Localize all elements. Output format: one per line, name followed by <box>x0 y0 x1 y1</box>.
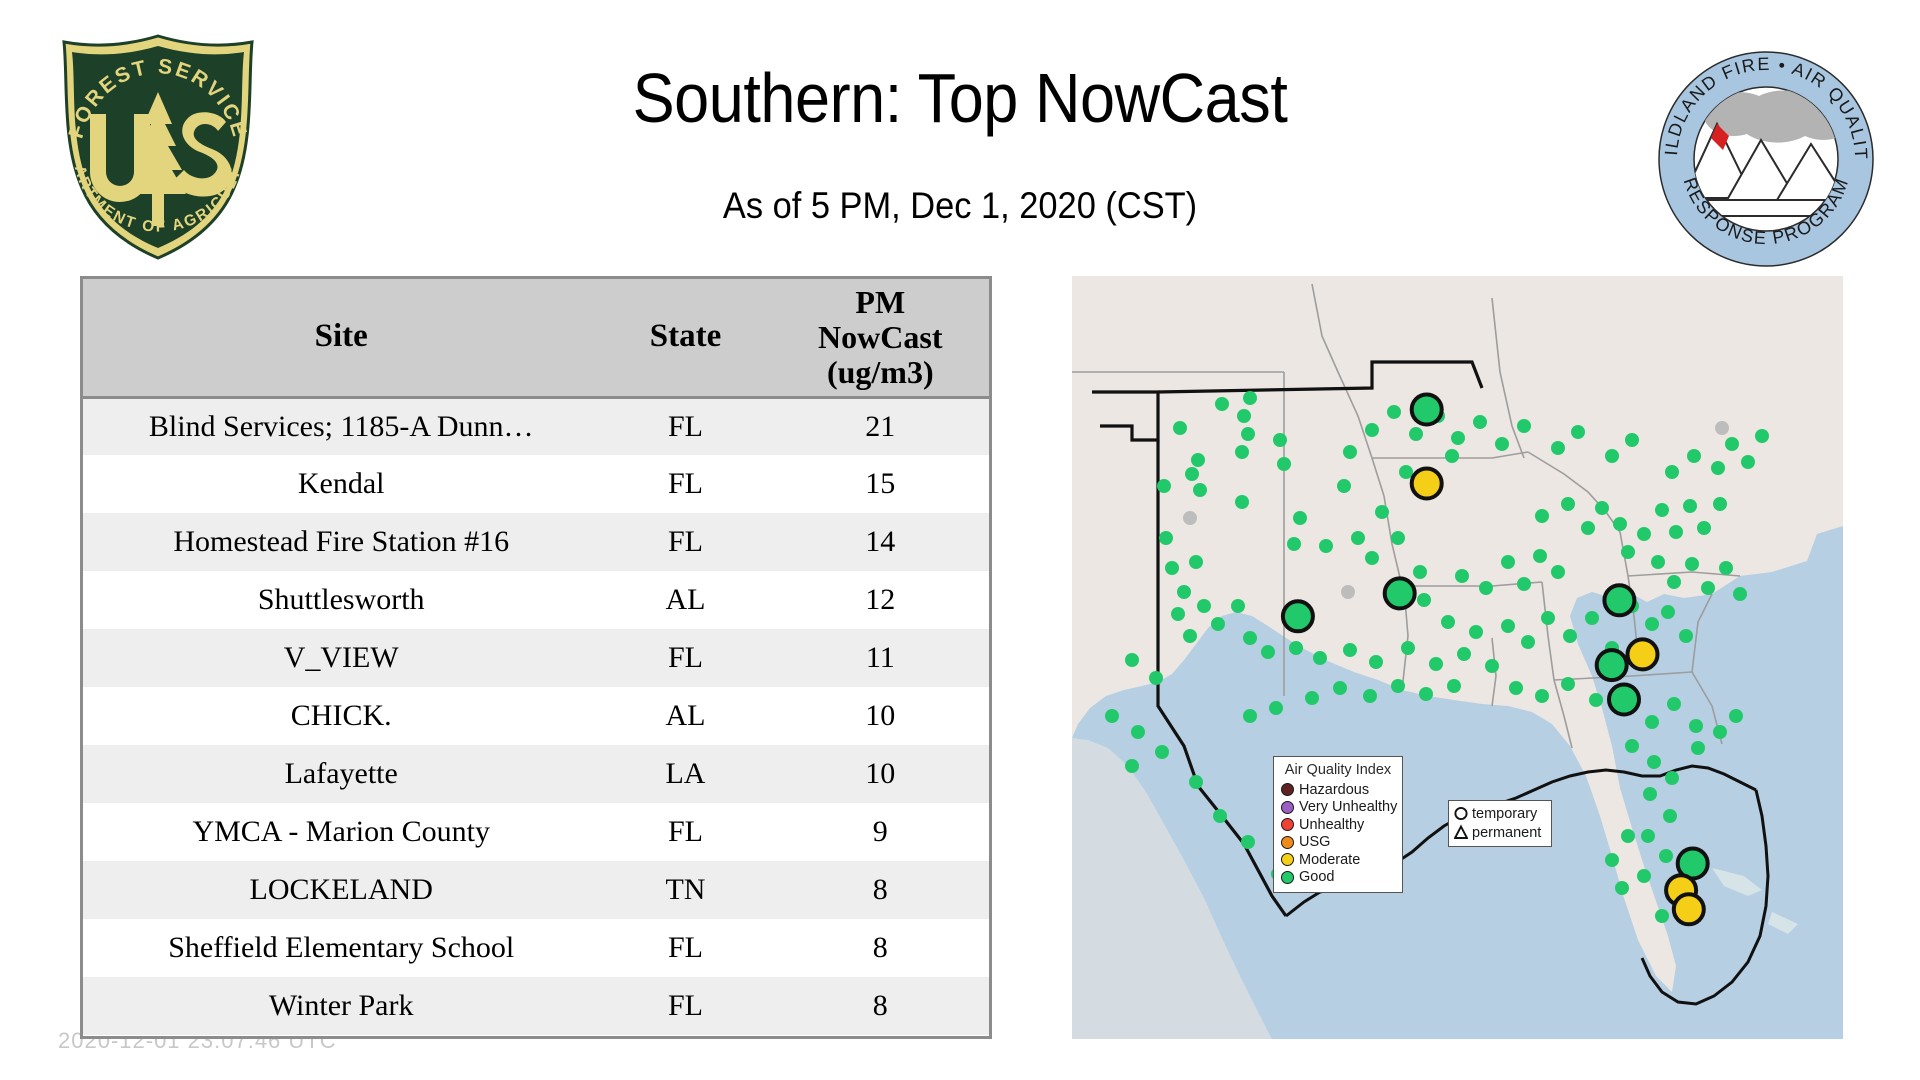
table-row: Sheffield Elementary SchoolFL8 <box>83 919 989 977</box>
legend-temporary-label: temporary <box>1472 806 1537 822</box>
pm-cell: 8 <box>772 977 989 1035</box>
state-cell: FL <box>599 629 771 687</box>
aqi-legend-label: Unhealthy <box>1299 817 1364 833</box>
site-cell: Kendal <box>83 455 599 513</box>
aqi-swatch-icon <box>1281 783 1294 796</box>
monitor-type-legend: temporary permanent <box>1448 800 1552 847</box>
site-cell: Homestead Fire Station #16 <box>83 513 599 571</box>
aqi-legend-label: Moderate <box>1299 852 1360 868</box>
aqi-swatch-icon <box>1281 871 1294 884</box>
triangle-icon <box>1454 824 1468 841</box>
table-row: Winter ParkFL8 <box>83 977 989 1035</box>
aqi-legend-label: USG <box>1299 834 1330 850</box>
table-row: LOCKELANDTN8 <box>83 861 989 919</box>
legend-temporary-row: temporary <box>1454 804 1546 823</box>
highlighted-monitor-marker[interactable] <box>1628 639 1658 669</box>
aqi-legend-title: Air Quality Index <box>1281 762 1395 778</box>
state-cell: FL <box>599 919 771 977</box>
site-cell: YMCA - Marion County <box>83 803 599 861</box>
aqi-swatch-icon <box>1281 801 1294 814</box>
state-cell: AL <box>599 687 771 745</box>
site-cell: Blind Services; 1185-A Dunn… <box>83 397 599 455</box>
pm-cell: 14 <box>772 513 989 571</box>
state-cell: TN <box>599 861 771 919</box>
nowcast-table: Site State PM NowCast (ug/m3) Blind Serv… <box>83 279 989 1035</box>
column-header-site: Site <box>83 279 599 397</box>
wildland-fire-air-quality-response-program-logo: WILDLAND FIRE • AIR QUALITY RESPONSE PRO… <box>1655 48 1877 270</box>
aqi-swatch-icon <box>1281 853 1294 866</box>
site-cell: Shuttlesworth <box>83 571 599 629</box>
site-cell: V_VIEW <box>83 629 599 687</box>
aqi-legend-item: USG <box>1281 834 1395 852</box>
legend-permanent-label: permanent <box>1472 825 1541 841</box>
aqi-legend-item: Moderate <box>1281 851 1395 869</box>
state-cell: LA <box>599 745 771 803</box>
pm-cell: 15 <box>772 455 989 513</box>
aqi-legend-item: Unhealthy <box>1281 816 1395 834</box>
table-body: Blind Services; 1185-A Dunn…FL21KendalFL… <box>83 397 989 1035</box>
aqi-legend-item: Very Unhealthy <box>1281 799 1395 817</box>
aqi-legend-rows: HazardousVery UnhealthyUnhealthyUSGModer… <box>1281 781 1395 886</box>
highlighted-monitor-marker[interactable] <box>1609 685 1639 715</box>
nowcast-table-container: Site State PM NowCast (ug/m3) Blind Serv… <box>80 276 992 1039</box>
pm-header-line-3: (ug/m3) <box>776 355 985 390</box>
state-cell: FL <box>599 397 771 455</box>
pm-header-line-2: NowCast <box>776 320 985 355</box>
southern-region-aqi-map[interactable] <box>1072 276 1843 1039</box>
highlighted-monitor-marker[interactable] <box>1674 894 1704 924</box>
aqi-legend: Air Quality Index HazardousVery Unhealth… <box>1273 756 1403 893</box>
site-cell: Winter Park <box>83 977 599 1035</box>
column-header-pm-nowcast: PM NowCast (ug/m3) <box>772 279 989 397</box>
table-row: YMCA - Marion CountyFL9 <box>83 803 989 861</box>
highlighted-monitor-marker[interactable] <box>1597 650 1627 680</box>
pm-cell: 10 <box>772 687 989 745</box>
aqi-legend-label: Good <box>1299 869 1334 885</box>
table-row: Blind Services; 1185-A Dunn…FL21 <box>83 397 989 455</box>
highlighted-monitor-marker[interactable] <box>1412 395 1442 425</box>
aqi-legend-label: Very Unhealthy <box>1299 799 1397 815</box>
site-cell: CHICK. <box>83 687 599 745</box>
aqi-legend-item: Good <box>1281 869 1395 887</box>
state-cell: FL <box>599 977 771 1035</box>
table-row: CHICK.AL10 <box>83 687 989 745</box>
highlighted-monitor-marker[interactable] <box>1385 578 1415 608</box>
pm-cell: 8 <box>772 861 989 919</box>
page-title: Southern: Top NowCast <box>366 58 1554 138</box>
site-cell: Lafayette <box>83 745 599 803</box>
map-canvas <box>1072 276 1843 1039</box>
slide-root: 2020-12-01 23:07:46 UTC FOREST SERVICE D… <box>0 0 1920 1080</box>
table-row: ShuttlesworthAL12 <box>83 571 989 629</box>
aqi-swatch-icon <box>1281 836 1294 849</box>
table-header-row: Site State PM NowCast (ug/m3) <box>83 279 989 397</box>
state-cell: FL <box>599 455 771 513</box>
state-cell: FL <box>599 513 771 571</box>
pm-cell: 9 <box>772 803 989 861</box>
table-row: Homestead Fire Station #16FL14 <box>83 513 989 571</box>
pm-cell: 8 <box>772 919 989 977</box>
aqi-legend-label: Hazardous <box>1299 782 1369 798</box>
pm-cell: 11 <box>772 629 989 687</box>
highlighted-monitor-marker[interactable] <box>1283 601 1313 631</box>
highlighted-monitor-marker[interactable] <box>1412 469 1442 499</box>
aqi-legend-item: Hazardous <box>1281 781 1395 799</box>
table-row: V_VIEWFL11 <box>83 629 989 687</box>
legend-permanent-row: permanent <box>1454 823 1546 842</box>
site-cell: LOCKELAND <box>83 861 599 919</box>
highlighted-monitor-marker[interactable] <box>1604 585 1634 615</box>
page-subtitle: As of 5 PM, Dec 1, 2020 (CST) <box>346 185 1574 227</box>
state-cell: AL <box>599 571 771 629</box>
aqi-swatch-icon <box>1281 818 1294 831</box>
column-header-state: State <box>599 279 771 397</box>
table-header: Site State PM NowCast (ug/m3) <box>83 279 989 397</box>
table-row: KendalFL15 <box>83 455 989 513</box>
state-cell: FL <box>599 803 771 861</box>
table-row: LafayetteLA10 <box>83 745 989 803</box>
pm-cell: 12 <box>772 571 989 629</box>
circle-icon <box>1454 805 1468 822</box>
usfs-shield-logo: FOREST SERVICE DEPARTMENT OF AGRICULTURE <box>48 22 268 262</box>
pm-cell: 21 <box>772 397 989 455</box>
pm-header-line-1: PM <box>776 285 985 320</box>
pm-cell: 10 <box>772 745 989 803</box>
site-cell: Sheffield Elementary School <box>83 919 599 977</box>
